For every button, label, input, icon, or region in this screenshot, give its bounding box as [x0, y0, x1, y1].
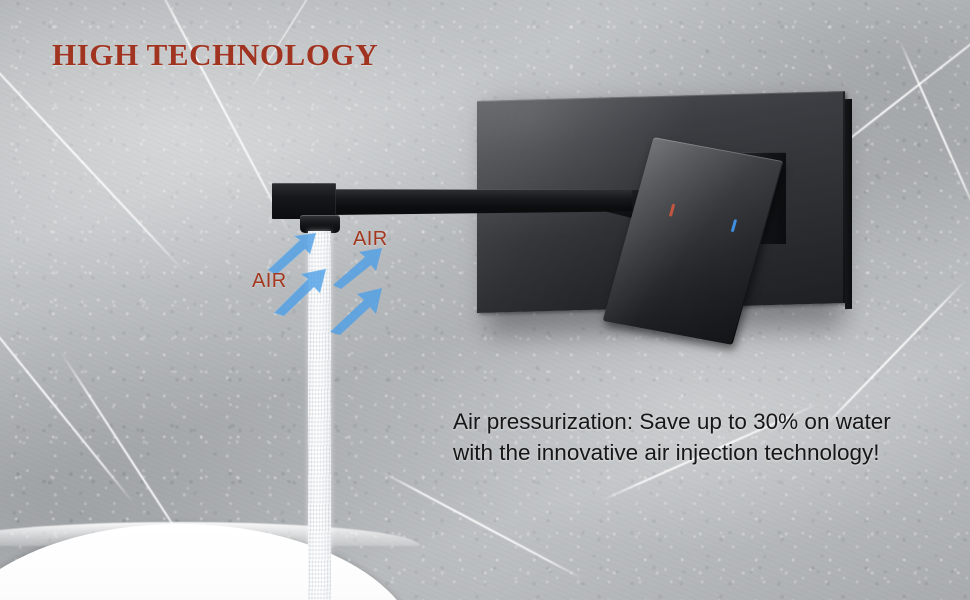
- page-title: HIGH TECHNOLOGY: [52, 37, 378, 73]
- feature-caption-line-2: with the innovative air injection techno…: [453, 437, 949, 468]
- feature-caption-line-1: Air pressurization: Save up to 30% on wa…: [453, 406, 949, 437]
- product-feature-image: HIGH TECHNOLOGY AIR AIR Air pressurizati…: [0, 0, 970, 600]
- air-label-right: AIR: [353, 228, 388, 251]
- escutcheon-plate-right-edge: [845, 99, 852, 309]
- air-label-left: AIR: [252, 270, 287, 293]
- faucet-spout-end-cap: [272, 183, 336, 219]
- feature-caption: Air pressurization: Save up to 30% on wa…: [453, 406, 949, 468]
- air-arrow-right-lower: [328, 284, 386, 336]
- faucet-spout: [332, 189, 632, 215]
